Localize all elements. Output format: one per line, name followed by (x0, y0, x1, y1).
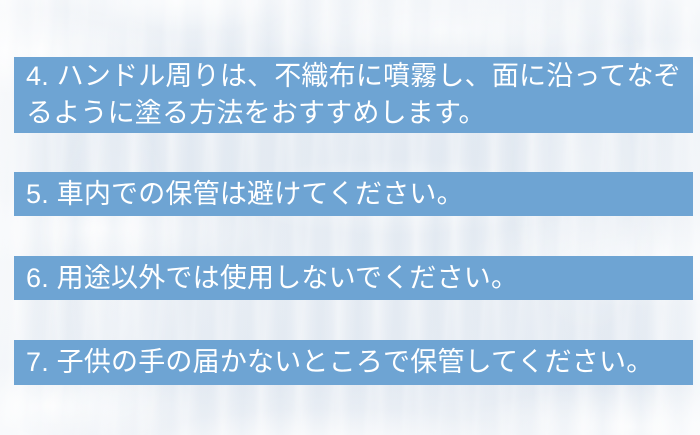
instruction-item-5: 5. 車内での保管は避けてください。 (14, 172, 693, 216)
instruction-panel: 4. ハンドル周りは、不織布に噴霧し、面に沿ってなぞ るように塗る方法をおすすめ… (0, 0, 700, 435)
instruction-list: 4. ハンドル周りは、不織布に噴霧し、面に沿ってなぞ るように塗る方法をおすすめ… (0, 0, 700, 435)
instruction-text-4: 4. ハンドル周りは、不織布に噴霧し、面に沿ってなぞ るように塗る方法をおすすめ… (26, 58, 681, 132)
instruction-text-6: 6. 用途以外では使用しないでください。 (26, 260, 518, 297)
instruction-item-6: 6. 用途以外では使用しないでください。 (14, 256, 693, 300)
instruction-item-4: 4. ハンドル周りは、不織布に噴霧し、面に沿ってなぞ るように塗る方法をおすすめ… (14, 57, 693, 133)
instruction-item-7: 7. 子供の手の届かないところで保管してください。 (14, 340, 693, 385)
instruction-text-7: 7. 子供の手の届かないところで保管してください。 (26, 344, 653, 381)
instruction-text-5: 5. 車内での保管は避けてください。 (26, 176, 464, 213)
